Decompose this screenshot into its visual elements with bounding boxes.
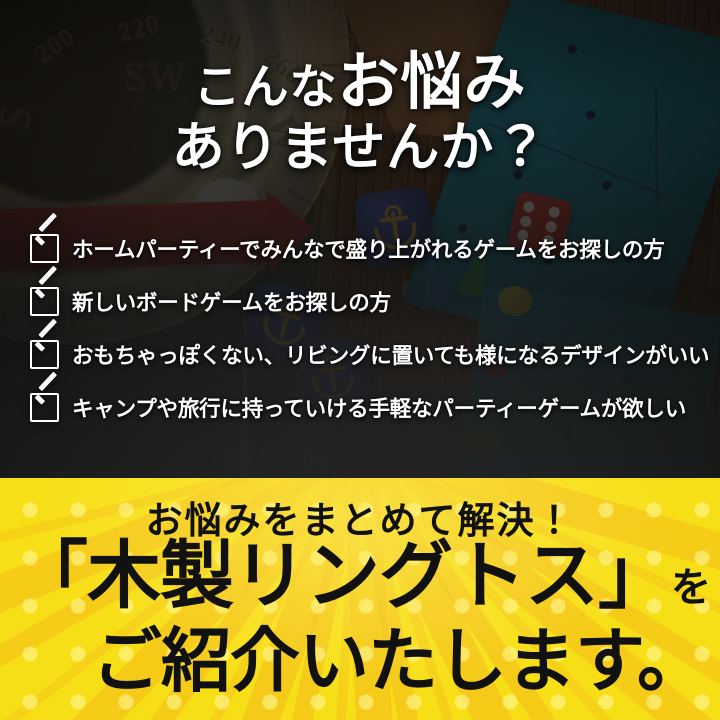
promo-yellow-section: お悩みをまとめて解決！ 「木製リングトス」を ご紹介いたします。 [0,478,720,720]
checklist-item: 新しいボードゲームをお探しの方 [30,275,700,327]
promo-product-name: 「木製リングトス」 [14,536,671,618]
checklist-item-label: ホームパーティーでみんなで盛り上がれるゲームをお探しの方 [72,233,665,264]
checklist-item: ホームパーティーでみんなで盛り上がれるゲームをお探しの方 [30,222,700,274]
checklist-item: おもちゃっぽくない、リビングに置いても様になるデザインがいい [30,328,700,380]
checklist-item-label: おもちゃっぽくない、リビングに置いても様になるデザインがいい [72,339,709,370]
promo-closing-text: ご紹介いたします。 [0,628,720,698]
check-mark-icon [34,386,60,410]
check-mark-icon [34,280,60,304]
checkbox-checked-icon [30,287,59,316]
promo-copy: お悩みをまとめて解決！ 「木製リングトス」を ご紹介いたします。 [0,478,720,720]
checklist-item-label: 新しいボードゲームをお探しの方 [72,286,391,317]
promo-product-line: 「木製リングトス」を [0,540,720,614]
checklist-item-label: キャンプや旅行に持っていける手軽なパーティーゲームが欲しい [72,392,686,423]
checkbox-checked-icon [30,393,59,422]
promotional-banner: 200 220 240 260 S SW W [0,0,720,720]
check-mark-icon [34,333,60,357]
benefit-checklist: ホームパーティーでみんなで盛り上がれるゲームをお探しの方新しいボードゲームをお探… [30,222,700,434]
checkbox-checked-icon [30,234,59,263]
promo-particle: を [671,565,711,610]
checklist-item: キャンプや旅行に持っていける手軽なパーティーゲームが欲しい [30,381,700,433]
hero-photo-section: 200 220 240 260 S SW W [0,0,720,478]
checkbox-checked-icon [30,340,59,369]
check-mark-icon [34,227,60,251]
